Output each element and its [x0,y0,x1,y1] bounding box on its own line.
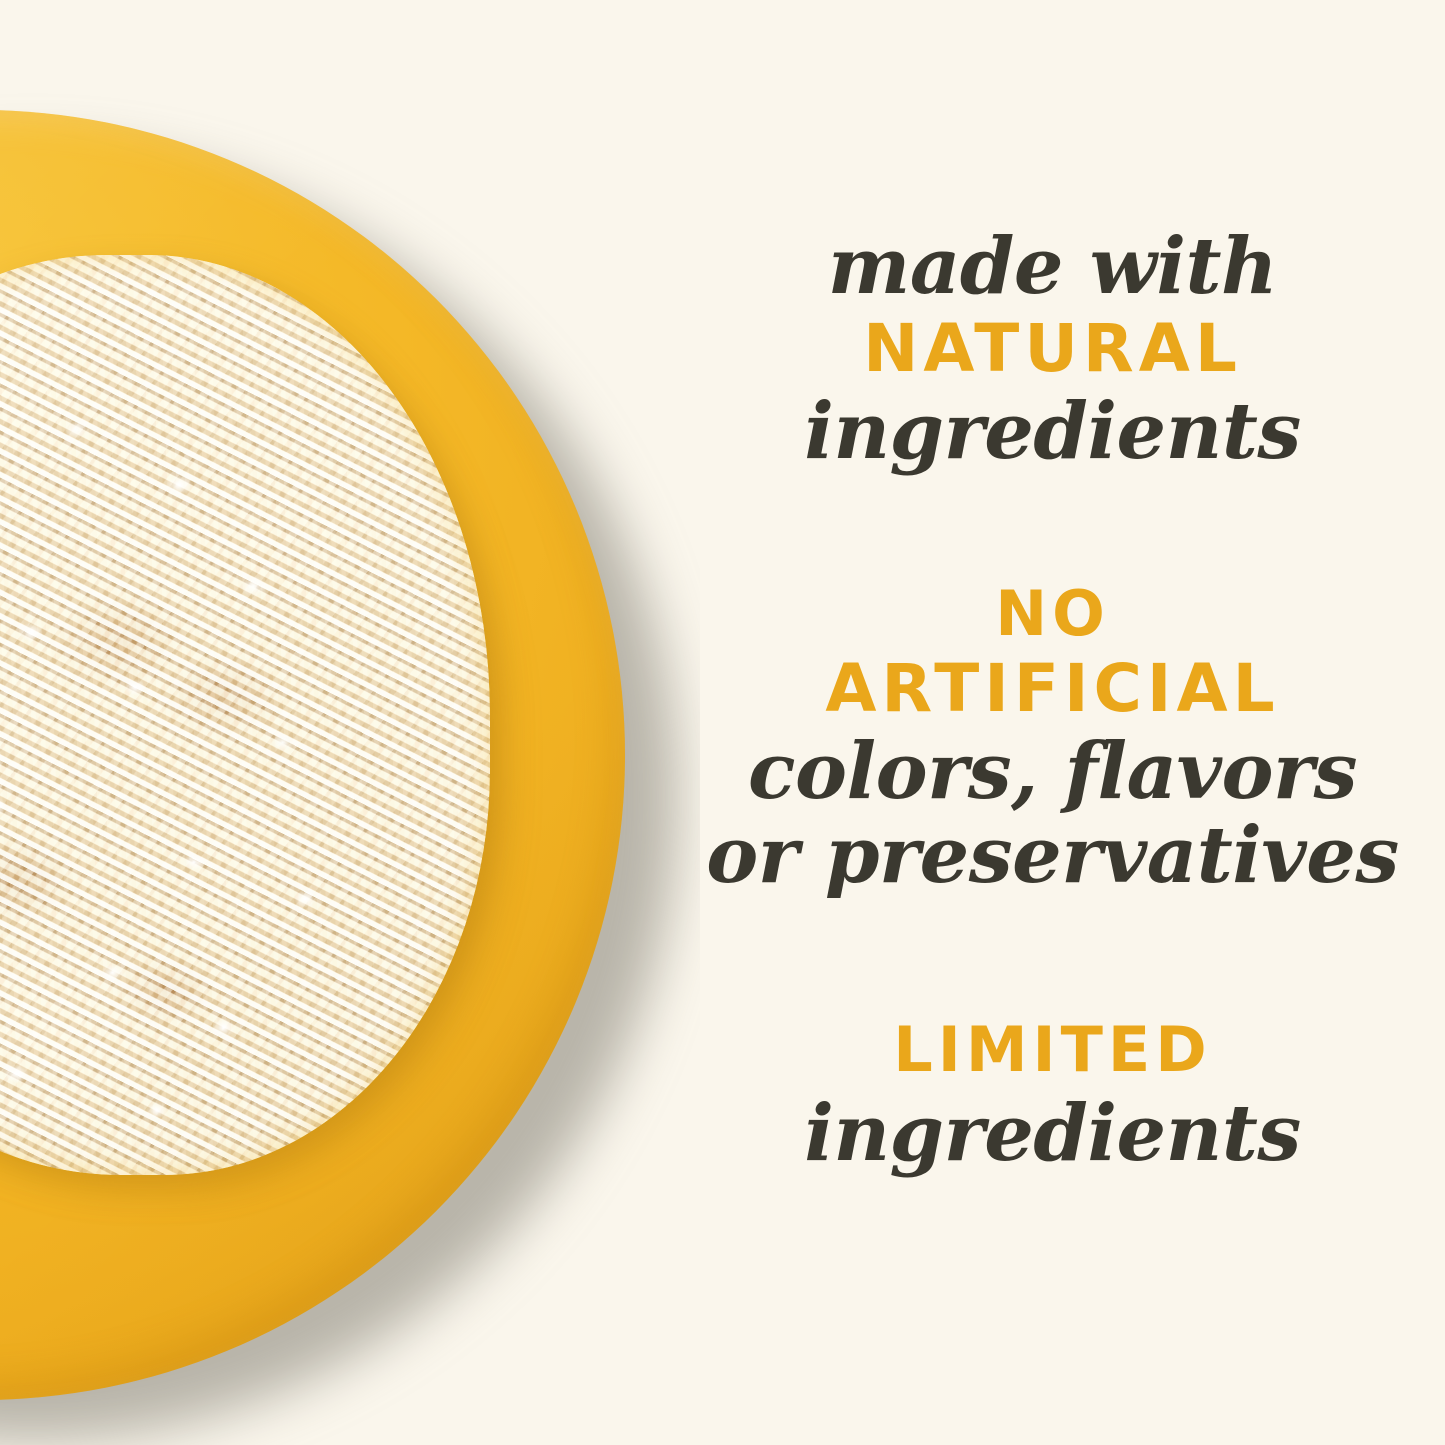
claim-natural-ingredients: made with NATURAL ingredients [660,224,1445,476]
claim-1-line-3: ingredients [660,388,1445,476]
claim-2-line-1: NO [660,580,1445,648]
product-claims-image: made with NATURAL ingredients NO ARTIFIC… [0,0,1445,1445]
claim-3-line-1: LIMITED [660,1012,1445,1088]
claim-2-line-4: or preservatives [660,814,1445,898]
food-photo [0,0,700,1445]
claim-1-line-1: made with [660,224,1445,310]
food-edge-feather [0,255,490,1175]
claim-2-line-3: colors, flavors [660,730,1445,814]
claims-column: made with NATURAL ingredients NO ARTIFIC… [660,0,1445,1445]
claim-2-line-2: ARTIFICIAL [660,648,1445,730]
claim-3-line-2: ingredients [660,1088,1445,1180]
claim-limited-ingredients: LIMITED ingredients [660,1012,1445,1180]
food-mound-mask [0,255,490,1175]
claim-1-line-2: NATURAL [660,310,1445,388]
food-mound [0,255,490,1175]
claim-no-artificial: NO ARTIFICIAL colors, flavors or preserv… [660,580,1445,898]
